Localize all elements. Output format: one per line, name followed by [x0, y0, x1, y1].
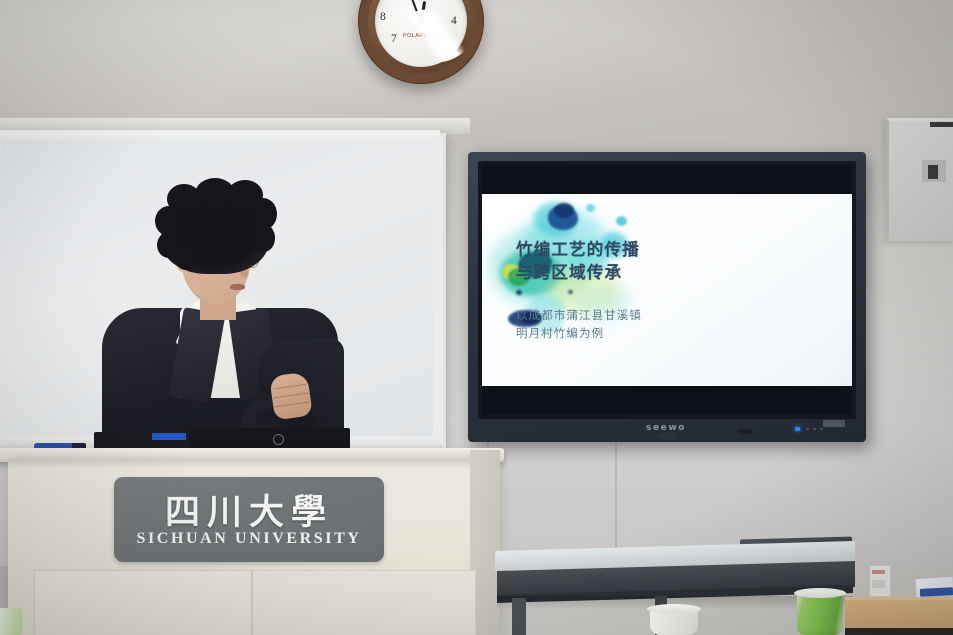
plaque-chinese-text: 四川大學 — [114, 484, 384, 535]
lectern-cabinet-right[interactable] — [252, 570, 476, 635]
interactive-flat-panel[interactable]: 竹编工艺的传播 与跨区域传承 以成都市蒲江县甘溪镇 明月村竹编为例 seewo — [468, 152, 866, 442]
bench-leg-left — [512, 598, 526, 635]
wall-panel-top-vent — [930, 122, 953, 127]
university-plaque: 四川大學 SICHUAN UNIVERSITY — [114, 477, 384, 562]
presentation-slide: 竹编工艺的传播 与跨区域传承 以成都市蒲江县甘溪镇 明月村竹编为例 — [482, 194, 852, 386]
whiteboard-top-frame — [0, 130, 440, 137]
display-brand-logo: seewo — [646, 423, 686, 433]
panel-corner-badge — [823, 420, 845, 427]
plaque-english-text: SICHUAN UNIVERSITY — [114, 530, 384, 548]
wall-outlet-socket[interactable] — [872, 580, 885, 588]
lectern-top-shadow — [8, 459, 498, 469]
slide-subtitle: 以成都市蒲江县甘溪镇 明月村竹编为例 — [516, 307, 642, 343]
wall-panel-latch[interactable] — [928, 165, 938, 179]
clock-numeral-8: 8 — [380, 11, 386, 23]
green-paper-cup-rim — [794, 588, 846, 598]
mouth — [230, 284, 245, 290]
slide-title: 竹编工艺的传播 与跨区域传承 — [516, 238, 640, 285]
power-led-indicator — [795, 427, 800, 431]
hair — [161, 188, 269, 274]
desk-front-edge — [845, 628, 953, 635]
clock-glare-reflection — [393, 9, 471, 63]
classroom-scene: 2 4 5 7 8 9 POLARIS — [0, 0, 953, 635]
wall-seam — [615, 440, 617, 560]
papers-blue-folder — [920, 587, 953, 597]
panel-bottom-knob[interactable] — [656, 433, 678, 440]
ir-sensor — [738, 429, 752, 434]
podium-device-blue-strip — [152, 433, 186, 440]
podium-equipment-box — [190, 428, 350, 450]
white-paper-cup-rim — [647, 604, 701, 614]
wall-outlet-indicator — [872, 570, 885, 574]
lectern-cabinet-left[interactable] — [34, 570, 252, 635]
podium-knob[interactable] — [273, 434, 284, 445]
left-edge-cup — [0, 608, 22, 635]
